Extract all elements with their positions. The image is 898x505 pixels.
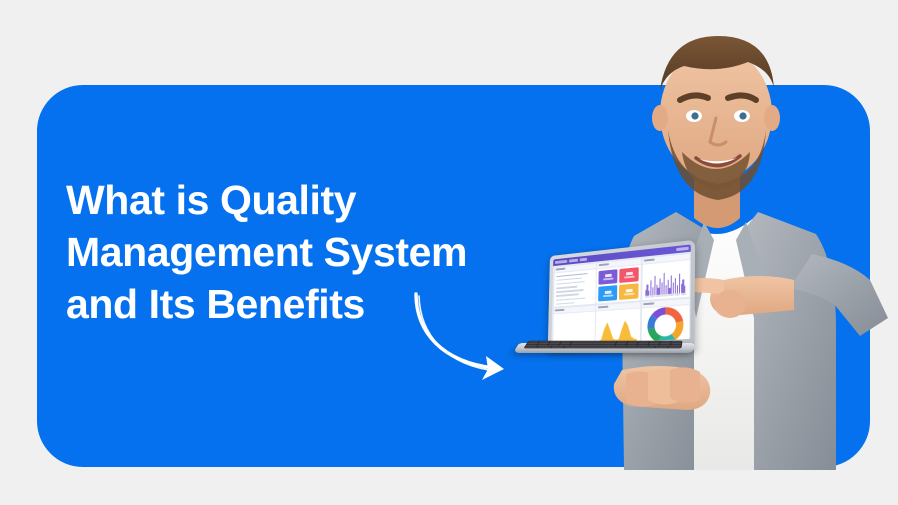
keyboard-key	[578, 346, 628, 347]
nav-item-user-menu[interactable]	[676, 247, 689, 251]
curved-arrow-icon	[398, 288, 528, 388]
panel-kpi-tiles[interactable]	[596, 258, 641, 304]
list-item[interactable]	[556, 289, 584, 293]
bar	[654, 276, 655, 296]
nav-item-reports[interactable]	[569, 259, 578, 263]
kpi-tile-4[interactable]	[619, 284, 639, 301]
nav-item-dashboard[interactable]	[555, 260, 567, 264]
panel-kpi-tiles-body	[596, 264, 641, 304]
donut-svg	[646, 305, 683, 344]
keyboard-key	[538, 346, 551, 347]
keyboard-key	[642, 346, 655, 347]
activity-bar-series	[645, 270, 686, 296]
nav-item-settings[interactable]	[580, 258, 587, 262]
dashboard-screen[interactable]	[551, 244, 691, 345]
keyboard-key	[668, 346, 681, 347]
list-item[interactable]	[555, 297, 585, 301]
panel-category-bars[interactable]	[553, 306, 595, 346]
keyboard-row	[525, 346, 681, 347]
bar	[665, 285, 666, 295]
trend-area-series	[598, 319, 637, 343]
bar	[684, 285, 685, 293]
list-item[interactable]	[556, 273, 587, 278]
kpi-tile-3[interactable]	[598, 286, 617, 302]
laptop-keyboard	[523, 341, 682, 349]
list-item[interactable]	[555, 294, 579, 297]
kpi-label	[602, 295, 612, 297]
keyboard-key	[565, 346, 578, 347]
keyboard-key	[551, 346, 564, 347]
panel-activity-bars[interactable]	[642, 253, 689, 300]
donut-chart	[641, 305, 689, 345]
list-item[interactable]	[555, 302, 574, 305]
dashboard-grid	[551, 252, 690, 345]
kpi-label	[623, 293, 634, 295]
record-lines	[555, 271, 593, 305]
keyboard-key	[628, 346, 641, 347]
panel-distribution-donut-body	[641, 305, 689, 345]
kpi-label	[603, 278, 613, 280]
panel-trend-area-body	[595, 308, 640, 345]
bar	[677, 285, 678, 294]
keyboard-key	[655, 346, 668, 347]
panel-distribution-donut[interactable]	[641, 299, 689, 345]
panel-trend-area[interactable]	[595, 302, 640, 345]
panel-records-list[interactable]	[554, 263, 596, 307]
laptop-device	[512, 248, 702, 373]
kpi-value	[604, 291, 611, 295]
bar	[679, 273, 680, 294]
kpi-tile-2[interactable]	[619, 267, 639, 284]
list-item[interactable]	[556, 281, 585, 285]
poster-canvas: What is Quality Management System and It…	[0, 0, 898, 500]
kpi-tile-1[interactable]	[598, 269, 617, 285]
bar	[652, 287, 653, 296]
kpi-label	[624, 276, 635, 278]
panel-activity-bars-body	[642, 260, 689, 301]
keyboard-key	[525, 346, 538, 347]
panel-records-list-body	[554, 269, 596, 307]
laptop-lid	[548, 240, 695, 351]
list-item[interactable]	[556, 286, 578, 289]
kpi-tile-group	[598, 267, 639, 302]
kpi-value	[625, 289, 632, 293]
area-path	[598, 319, 637, 343]
list-item[interactable]	[556, 277, 582, 281]
